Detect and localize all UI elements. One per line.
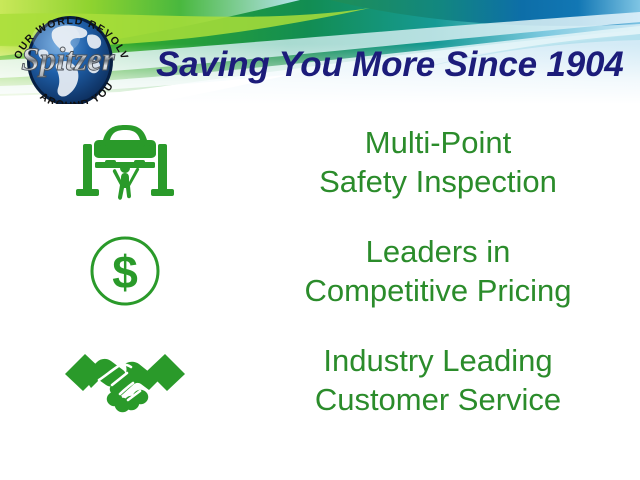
feature-row: Industry Leading Customer Service bbox=[0, 328, 640, 432]
feature-text: Leaders in Competitive Pricing bbox=[250, 232, 640, 311]
feature-row: Multi-Point Safety Inspection bbox=[0, 112, 640, 212]
feature-line-1: Industry Leading bbox=[250, 341, 626, 380]
spitzer-globe-logo[interactable]: OUR WORLD REVOLVES AROUND YOU Spitzer bbox=[2, 2, 138, 104]
feature-line-2: Customer Service bbox=[250, 380, 626, 419]
svg-text:Spitzer: Spitzer bbox=[21, 42, 116, 78]
header-banner: OUR WORLD REVOLVES AROUND YOU Spitzer Sa… bbox=[0, 0, 640, 104]
feature-text: Multi-Point Safety Inspection bbox=[250, 123, 640, 202]
car-lift-inspection-icon bbox=[0, 116, 250, 208]
feature-text: Industry Leading Customer Service bbox=[250, 341, 640, 420]
handshake-icon bbox=[0, 340, 250, 420]
feature-line-2: Safety Inspection bbox=[250, 162, 626, 201]
feature-line-1: Multi-Point bbox=[250, 123, 626, 162]
svg-text:$: $ bbox=[112, 246, 138, 298]
dollar-circle-icon: $ bbox=[0, 232, 250, 310]
logo-wordmark: Spitzer bbox=[21, 42, 116, 78]
feature-line-2: Competitive Pricing bbox=[250, 271, 626, 310]
feature-line-1: Leaders in bbox=[250, 232, 626, 271]
feature-row: $ Leaders in Competitive Pricing bbox=[0, 224, 640, 318]
page-title: Saving You More Since 1904 bbox=[156, 43, 640, 87]
feature-list: Multi-Point Safety Inspection $ Leaders … bbox=[0, 106, 640, 436]
